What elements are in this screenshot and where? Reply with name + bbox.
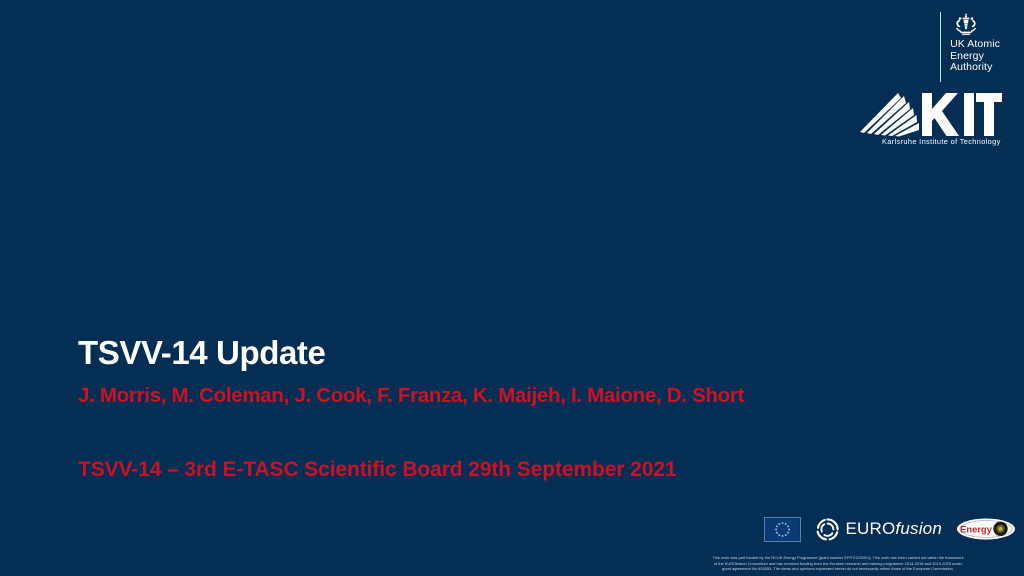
ukaea-logo: UK Atomic Energy Authority (940, 12, 1000, 84)
eurofusion-suffix: fusion (895, 519, 942, 538)
ukaea-divider-rule (940, 12, 942, 82)
kit-logo: Karlsruhe Institute of Technology (854, 88, 1002, 146)
disclaimer-line-3: grant agreement No 633053. The views and… (658, 566, 1018, 572)
kit-logo-graphic: Karlsruhe Institute of Technology (854, 88, 1002, 146)
slide-title: TSVV-14 Update (78, 333, 878, 373)
ukaea-line-3: Authority (950, 62, 992, 74)
eurofusion-prefix: EURO (846, 519, 896, 538)
ukaea-line-1: UK Atomic (950, 39, 1000, 51)
event-subtitle: TSVV-14 – 3rd E-TASC Scientific Board 29… (78, 457, 878, 483)
european-union-flag-icon (764, 517, 801, 542)
footer-logo-group: EUROfusion Energy (764, 515, 1017, 543)
author-list: J. Morris, M. Coleman, J. Cook, F. Franz… (78, 383, 878, 409)
title-block: TSVV-14 Update J. Morris, M. Coleman, J.… (78, 333, 878, 483)
eurofusion-swirl-icon (815, 517, 840, 542)
royal-coat-of-arms-crest-icon (951, 12, 981, 36)
energy-wordmark-text: Energy (960, 524, 993, 535)
presentation-slide: UK Atomic Energy Authority Karl (0, 0, 1024, 576)
eurofusion-logo: EUROfusion (815, 517, 943, 542)
ukaea-logo-body: UK Atomic Energy Authority (950, 12, 1000, 74)
energy-logo-icon: Energy (956, 515, 1016, 543)
eurofusion-wordmark: EUROfusion (846, 519, 943, 539)
kit-tagline-text: Karlsruhe Institute of Technology (882, 137, 1001, 146)
funding-disclaimer: This work was part funded by the RCUK En… (658, 555, 1018, 572)
